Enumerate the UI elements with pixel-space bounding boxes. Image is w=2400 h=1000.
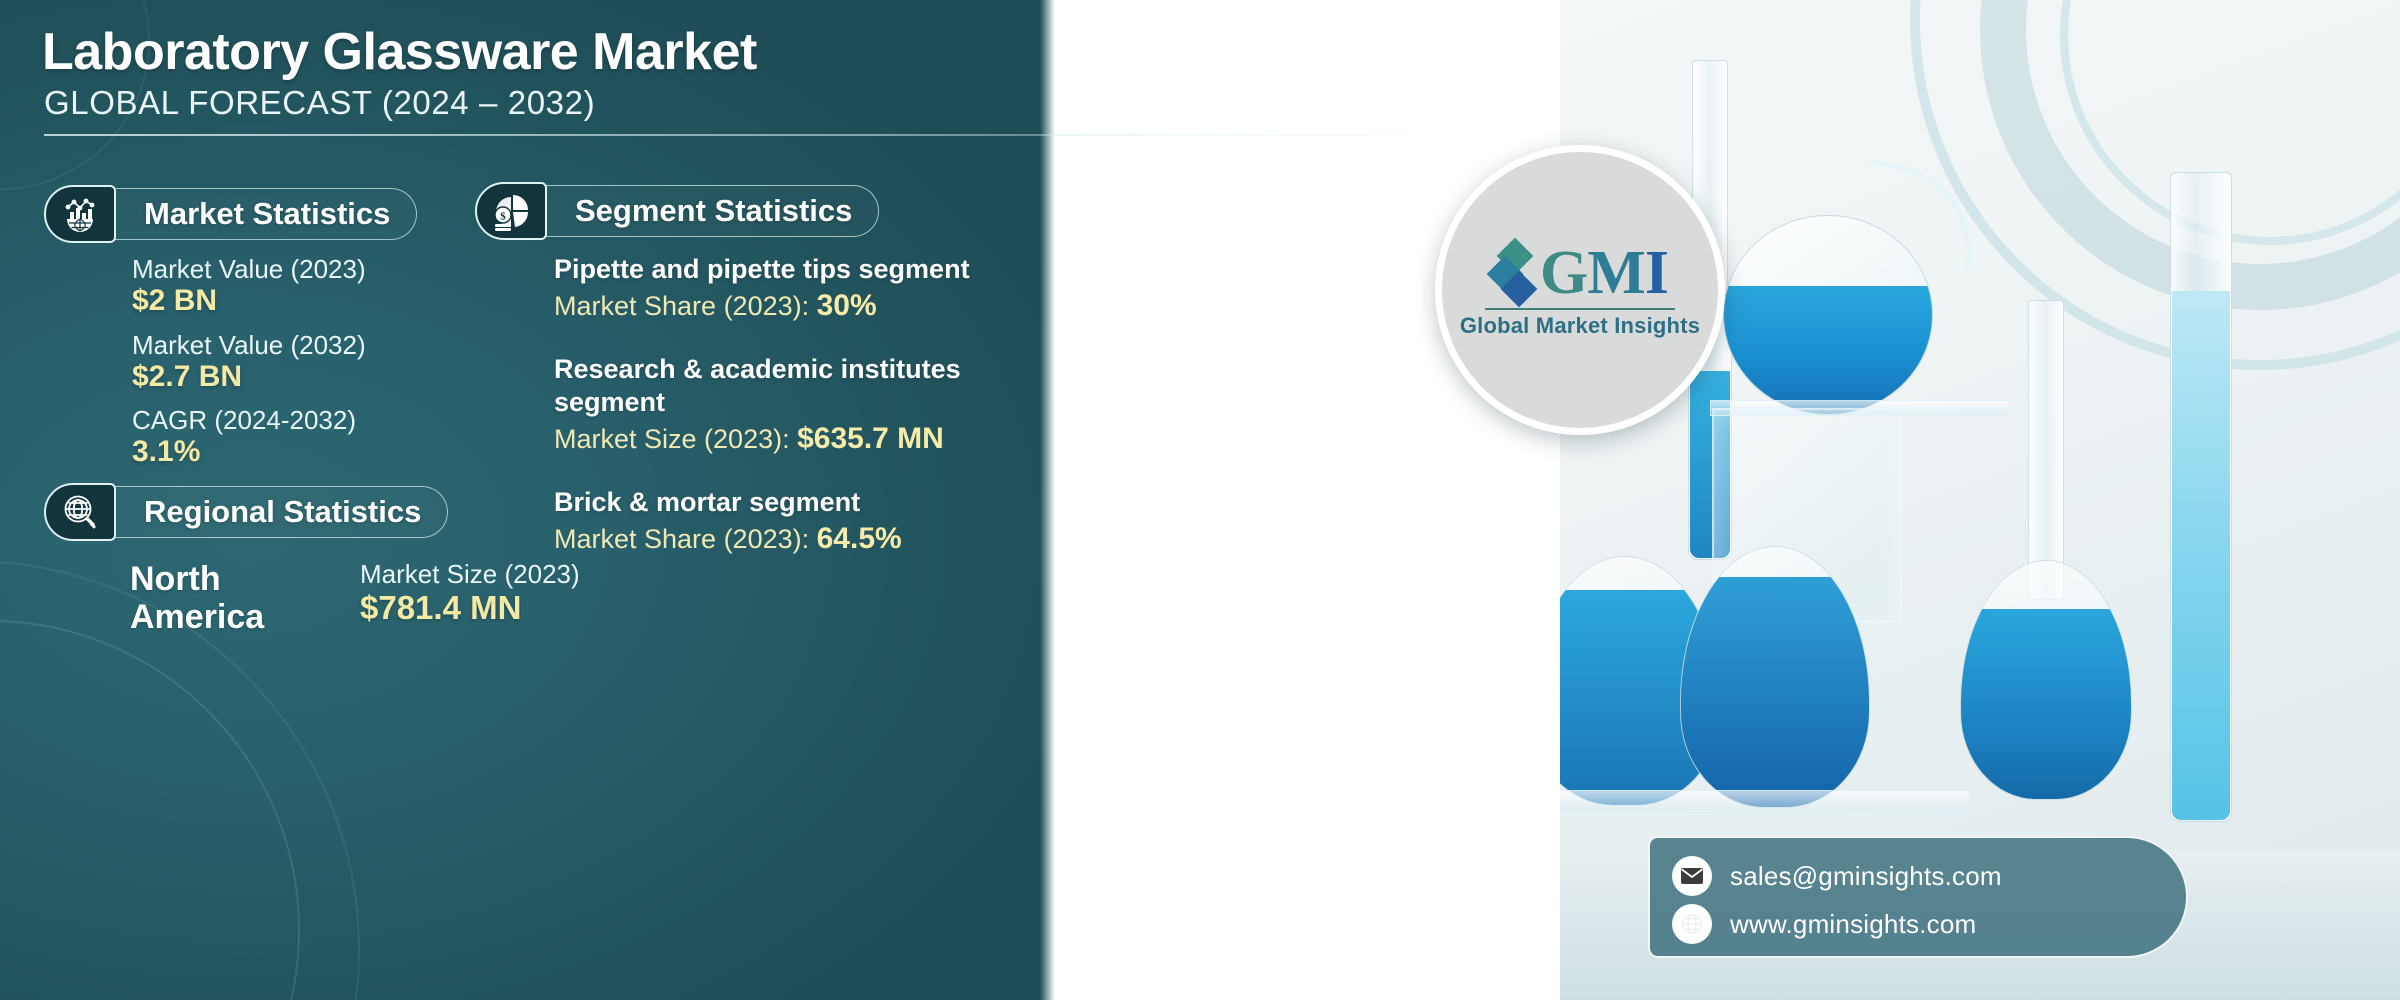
region-name-text: North America (130, 560, 264, 636)
segment-metric: Market Size (2023): $635.7 MN (554, 419, 1074, 458)
contact-website-row[interactable]: www.gminsights.com (1672, 900, 2186, 948)
segment-name: Brick & mortar segment (554, 486, 1074, 519)
region-metric: Market Size (2023) $781.4 MN (360, 560, 580, 627)
region-name: North America (130, 560, 300, 636)
graduated-cylinder (2170, 172, 2232, 822)
market-stat-label: Market Value (2023) (132, 255, 366, 284)
gmi-letter-g: G (1540, 239, 1587, 307)
contact-website-text: www.gminsights.com (1730, 909, 1976, 940)
volumetric-flask-bulb (1960, 560, 2132, 800)
market-statistics-pill: Market Statistics (113, 188, 417, 240)
segment-statistics-heading: $ Segment Statistics (475, 182, 879, 240)
regional-statistics-body: North America Market Size (2023) $781.4 … (130, 560, 580, 636)
market-statistics-heading: Market Statistics (44, 185, 417, 243)
contact-email-text: sales@gminsights.com (1730, 861, 2002, 892)
segment-metric-value: $635.7 MN (797, 422, 944, 455)
regional-statistics-pill: Regional Statistics (113, 486, 448, 538)
segment-name: Research & academic institutes segment (554, 353, 1074, 419)
market-stat-row: Market Value (2032) $2.7 BN (132, 331, 366, 395)
glass-shelf (1710, 400, 2010, 416)
segment-list: Pipette and pipette tips segment Market … (554, 253, 1074, 558)
gmi-logo-wordmark: GMI (1492, 242, 1668, 304)
region-metric-label: Market Size (2023) (360, 560, 580, 589)
gmi-logo-rule (1485, 308, 1675, 310)
svg-text:$: $ (500, 211, 506, 223)
contact-bar: sales@gminsights.com www.gminsights.com (1648, 836, 2188, 958)
market-stat-value: 3.1% (132, 435, 366, 470)
infographic-canvas: Laboratory Glassware Market GLOBAL FOREC… (0, 0, 2400, 1000)
segment-metric: Market Share (2023): 30% (554, 286, 1074, 325)
pie-chart-dollar-icon: $ (475, 182, 547, 240)
page-title: Laboratory Glassware Market (42, 22, 757, 82)
gmi-letters: GMI (1540, 242, 1668, 304)
market-stat-value: $2 BN (132, 284, 366, 319)
pear-flask-center (1680, 546, 1870, 808)
globe-magnifier-icon (44, 483, 116, 541)
volumetric-flask-neck (2028, 300, 2064, 600)
segment-metric-label: Market Size (2023): (554, 424, 797, 454)
contact-email-row[interactable]: sales@gminsights.com (1672, 852, 2186, 900)
header-divider (44, 134, 1524, 136)
segment-metric-value: 64.5% (817, 522, 902, 555)
globe-icon (1672, 904, 1712, 944)
market-stat-value: $2.7 BN (132, 360, 366, 395)
regional-statistics-label: Regional Statistics (144, 494, 421, 530)
page-subtitle: GLOBAL FORECAST (2024 – 2032) (44, 84, 595, 122)
gmi-logo-tagline: Global Market Insights (1460, 313, 1700, 339)
regional-statistics-heading: Regional Statistics (44, 483, 448, 541)
segment-name: Pipette and pipette tips segment (554, 253, 1074, 286)
segment-statistics-pill: Segment Statistics (544, 185, 879, 237)
market-stat-row: CAGR (2024-2032) 3.1% (132, 406, 366, 470)
envelope-icon (1672, 856, 1712, 896)
segment-metric: Market Share (2023): 64.5% (554, 519, 1074, 558)
segment-item: Brick & mortar segment Market Share (202… (554, 486, 1074, 558)
gmi-letter-m: M (1587, 239, 1645, 307)
globe-bar-chart-icon (44, 185, 116, 243)
gmi-letter-i: I (1645, 239, 1668, 307)
market-stat-row: Market Value (2023) $2 BN (132, 255, 366, 319)
segment-metric-value: 30% (817, 289, 877, 322)
segment-metric-label: Market Share (2023): (554, 291, 817, 321)
market-statistics-rows: Market Value (2023) $2 BN Market Value (… (132, 255, 366, 470)
front-glass-plate (1560, 790, 1970, 812)
segment-statistics-label: Segment Statistics (575, 193, 852, 229)
segment-item: Research & academic institutes segment M… (554, 353, 1074, 458)
region-metric-value: $781.4 MN (360, 589, 580, 627)
market-statistics-label: Market Statistics (144, 196, 390, 232)
gmi-diamonds-icon (1492, 243, 1534, 303)
segment-metric-label: Market Share (2023): (554, 524, 817, 554)
gmi-logo: GMI Global Market Insights (1435, 145, 1725, 435)
segment-item: Pipette and pipette tips segment Market … (554, 253, 1074, 325)
market-stat-label: Market Value (2032) (132, 331, 366, 360)
round-bottom-flask (1723, 215, 1933, 415)
market-stat-label: CAGR (2024-2032) (132, 406, 366, 435)
